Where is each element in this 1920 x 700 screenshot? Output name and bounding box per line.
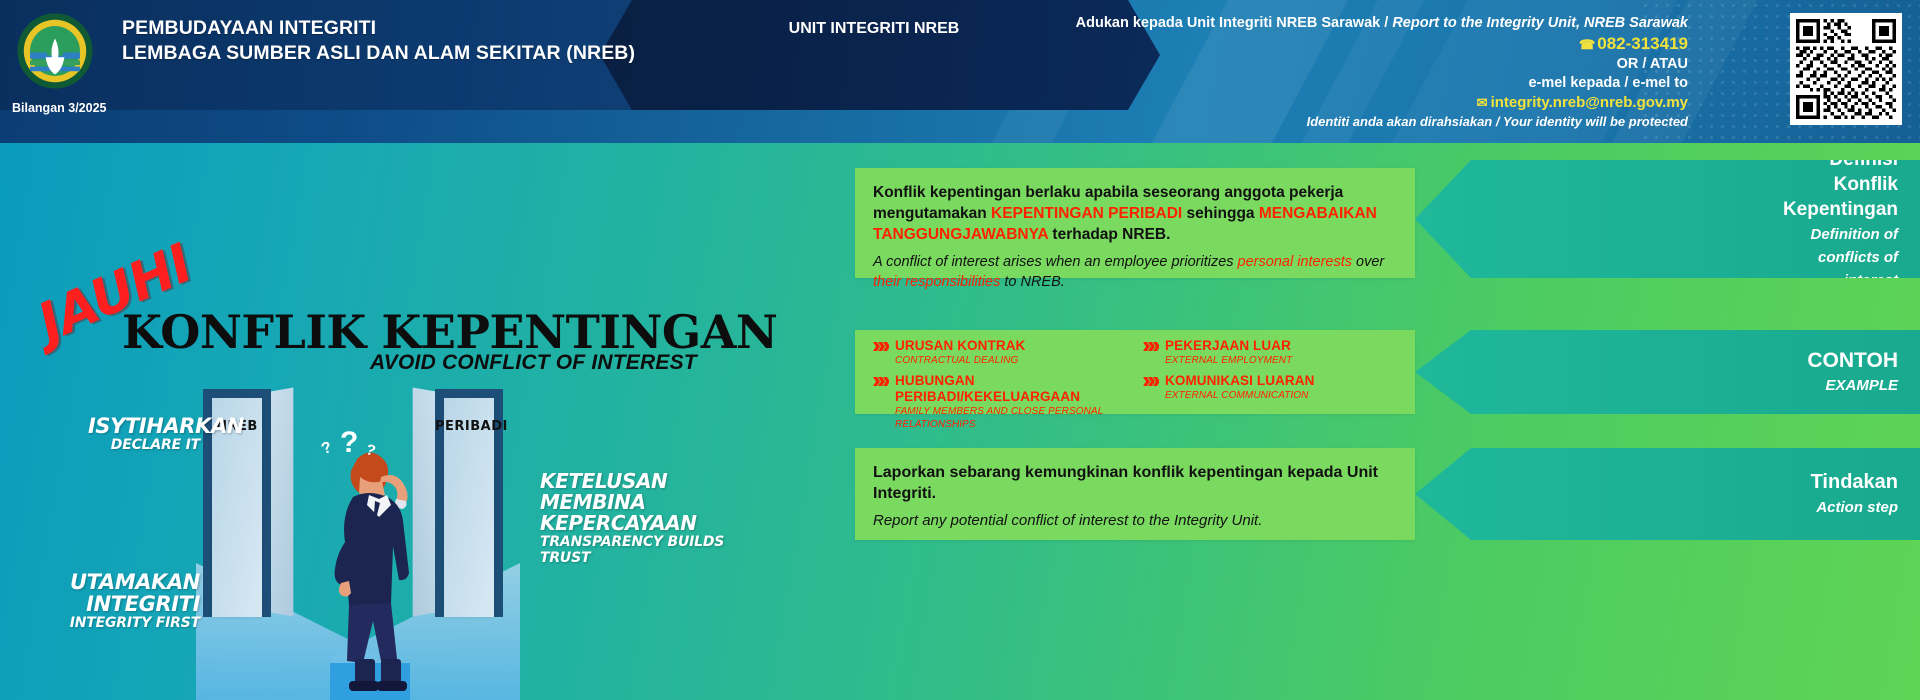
caption-transparency: KETELUSAN MEMBINA KEPERCAYAAN TRANSPAREN… [540,471,770,566]
caption-integrity-ms: UTAMAKAN INTEGRITI [28,571,200,615]
definition-ms-part3: terhadap NREB. [1048,226,1170,243]
action-ms: Laporkan sebarang kemungkinan konflik ke… [873,462,1397,504]
infographic-poster: PEMBUDAYAAN INTEGRITI LEMBAGA SUMBER ASL… [0,0,1920,700]
poster-header: PEMBUDAYAAN INTEGRITI LEMBAGA SUMBER ASL… [0,0,1920,143]
qr-code[interactable] [1790,13,1902,125]
tab-example-en: EXAMPLE [1475,376,1898,396]
example-en: CONTRACTUAL DEALING [895,354,1025,367]
example-en: EXTERNAL COMMUNICATION [1165,389,1314,402]
example-item: URUSAN KONTRAK CONTRACTUAL DEALING [873,338,1133,367]
example-item: PEKERJAAN LUAR EXTERNAL EMPLOYMENT [1143,338,1403,367]
action-panel: Laporkan sebarang kemungkinan konflik ke… [855,448,1415,540]
contact-or: OR / ATAU [988,55,1688,74]
question-mark-large: ? [340,426,358,460]
tab-definition: Definisi Konflik Kepentingan Definition … [1415,160,1920,278]
definition-en-red2: their responsibilities [873,274,1000,290]
definition-en-part1: A conflict of interest arises when an em… [873,254,1238,270]
tab-example-ms: CONTOH [1475,348,1898,373]
header-contact-block: Adukan kepada Unit Integriti NREB Sarawa… [988,14,1688,131]
definition-en: A conflict of interest arises when an em… [873,252,1397,292]
chevrons-right-icon [1143,377,1159,386]
report-en: Report to the Integrity Unit, NREB Saraw… [1392,15,1688,31]
action-text: Laporkan sebarang kemungkinan konflik ke… [855,448,1415,531]
chevrons-right-icon [873,377,889,386]
definition-ms-red1: KEPENTINGAN PERIBADI [991,205,1182,222]
contact-phone-row[interactable]: ☎082-313419 [988,33,1688,55]
contact-email-label: e-mel kepada / e-mel to [988,74,1688,93]
example-ms: PEKERJAAN LUAR [1165,338,1292,354]
door-peribadi-label: PERIBADI [435,419,503,434]
tab-definition-ms-2: Konflik [1475,172,1898,197]
caption-integrity-en: INTEGRITY FIRST [28,615,200,631]
examples-grid: URUSAN KONTRAK CONTRACTUAL DEALING PEKER… [873,338,1403,431]
caption-transparency-en: TRANSPARENCY BUILDS TRUST [540,534,770,566]
header-org-titles: PEMBUDAYAAN INTEGRITI LEMBAGA SUMBER ASL… [122,16,635,66]
example-en: EXTERNAL EMPLOYMENT [1165,354,1292,367]
tab-definition-en-2: conflicts of [1475,248,1898,268]
example-ms: URUSAN KONTRAK [895,338,1025,354]
caption-declare-ms: ISYTIHARKAN [88,415,200,437]
nreb-crest-logo [16,12,94,90]
caption-transparency-ms-1: KETELUSAN MEMBINA [540,471,770,513]
confused-man-illustration [305,443,435,700]
tab-action-ms: Tindakan [1475,470,1898,495]
org-line-1: PEMBUDAYAAN INTEGRITI [122,16,635,41]
chevrons-right-icon [873,342,889,351]
caption-integrity: UTAMAKAN INTEGRITI INTEGRITY FIRST [28,571,200,631]
phone-icon: ☎ [1579,37,1595,52]
privacy-note: Identiti anda akan dirahsiakan / Your id… [988,113,1688,131]
envelope-icon: ✉ [1477,95,1488,110]
definition-ms: Konflik kepentingan berlaku apabila sese… [873,182,1397,245]
definition-panel: Konflik kepentingan berlaku apabila sese… [855,168,1415,278]
action-en: Report any potential conflict of interes… [873,511,1397,531]
tab-definition-ms-3: Kepentingan [1475,197,1898,222]
page-subtitle: AVOID CONFLICT OF INTEREST [370,351,697,375]
example-ms: KOMUNIKASI LUARAN [1165,373,1314,389]
definition-ms-part2: sehingga [1182,205,1259,222]
report-ms: Adukan kepada Unit Integriti NREB Sarawa… [1076,15,1393,31]
definition-text: Konflik kepentingan berlaku apabila sese… [855,168,1415,292]
contact-email-row[interactable]: ✉integrity.nreb@nreb.gov.my [988,93,1688,113]
report-line: Adukan kepada Unit Integriti NREB Sarawa… [988,14,1688,33]
definition-en-part3: to NREB. [1000,274,1064,290]
issue-number: Bilangan 3/2025 [12,101,107,115]
caption-transparency-ms-2: KEPERCAYAAN [540,513,770,534]
tab-example: CONTOH EXAMPLE [1415,330,1920,414]
definition-en-part2: over [1352,254,1384,270]
example-item: KOMUNIKASI LUARAN EXTERNAL COMMUNICATION [1143,373,1403,431]
tab-action-en: Action step [1475,498,1898,518]
chevrons-right-icon [1143,342,1159,351]
definition-en-red1: personal interests [1238,254,1352,270]
hero-illustration: NREB PERIBADI ? ? ? [0,143,860,700]
tab-definition-en-1: Definition of [1475,225,1898,245]
org-line-2: LEMBAGA SUMBER ASLI DAN ALAM SEKITAR (NR… [122,41,635,66]
contact-phone: 082-313419 [1597,34,1688,53]
example-ms: HUBUNGAN PERIBADI/KEKELUARGAAN [895,373,1133,405]
example-item: HUBUNGAN PERIBADI/KEKELUARGAAN FAMILY ME… [873,373,1133,431]
caption-declare-en: DECLARE IT [88,437,200,453]
contact-email: integrity.nreb@nreb.gov.my [1491,94,1688,111]
tab-action: Tindakan Action step [1415,448,1920,540]
caption-declare: ISYTIHARKAN DECLARE IT [88,415,200,453]
door-peribadi[interactable]: PERIBADI [435,389,503,617]
example-en: FAMILY MEMBERS AND CLOSE PERSONAL RELATI… [895,405,1133,431]
